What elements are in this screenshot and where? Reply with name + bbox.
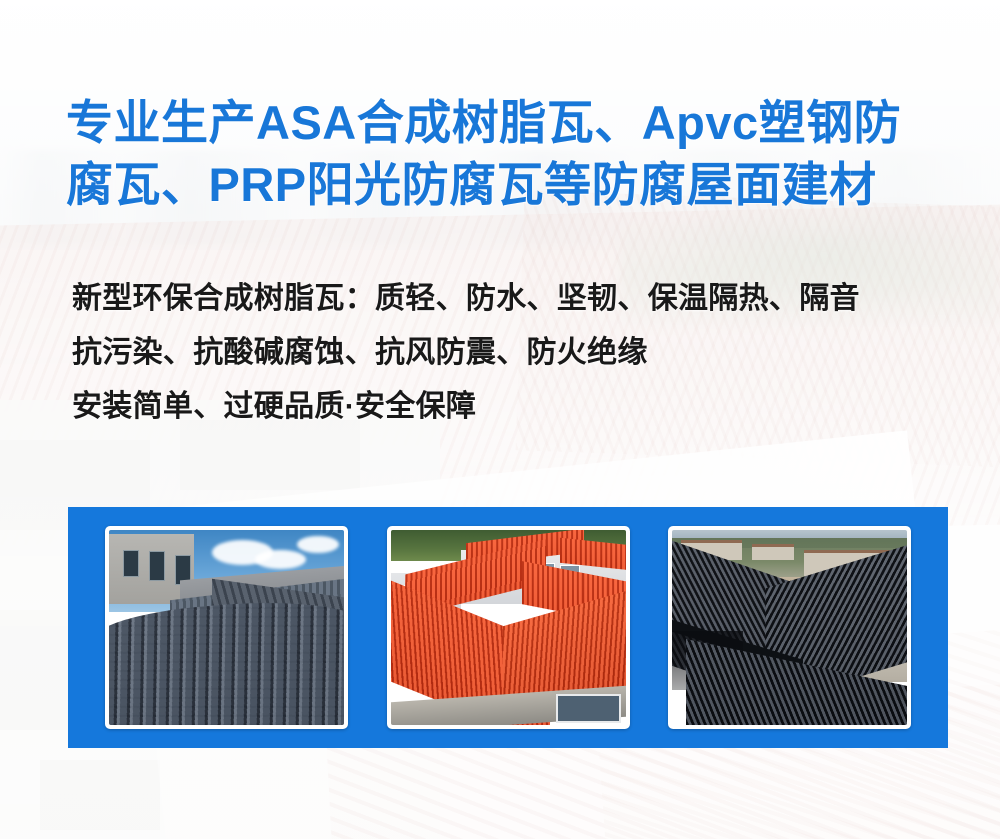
headline-line-2: 腐瓦、PRP阳光防腐瓦等防腐屋面建材: [66, 154, 956, 216]
product-banner: 专业生产ASA合成树脂瓦、Apvc塑钢防 腐瓦、PRP阳光防腐瓦等防腐屋面建材 …: [0, 0, 1000, 839]
headline-line-1: 专业生产ASA合成树脂瓦、Apvc塑钢防: [66, 92, 956, 154]
photo-black-roof-image: [672, 530, 907, 725]
subtitle-line-2: 抗污染、抗酸碱腐蚀、抗风防震、防火绝缘: [72, 326, 962, 380]
photo-red-roof-image: [391, 530, 626, 725]
subtitle-line-3: 安装简单、过硬品质·安全保障: [72, 380, 962, 434]
photo-grey-roof-image: [109, 530, 344, 725]
gallery-photo-red-resin-tile-roof[interactable]: [387, 526, 630, 729]
gallery-photo-black-resin-tile-roof[interactable]: [668, 526, 911, 729]
subtitle-block: 新型环保合成树脂瓦：质轻、防水、坚韧、保温隔热、隔音 抗污染、抗酸碱腐蚀、抗风防…: [72, 272, 962, 434]
subtitle-line-1: 新型环保合成树脂瓦：质轻、防水、坚韧、保温隔热、隔音: [72, 272, 962, 326]
photo1-main-tile-roof: [109, 592, 344, 725]
photo-gallery-panel: [68, 507, 948, 748]
gallery-photo-grey-resin-tile-roof[interactable]: [105, 526, 348, 729]
headline: 专业生产ASA合成树脂瓦、Apvc塑钢防 腐瓦、PRP阳光防腐瓦等防腐屋面建材: [66, 92, 956, 216]
photo2-bottom-window: [556, 694, 621, 723]
